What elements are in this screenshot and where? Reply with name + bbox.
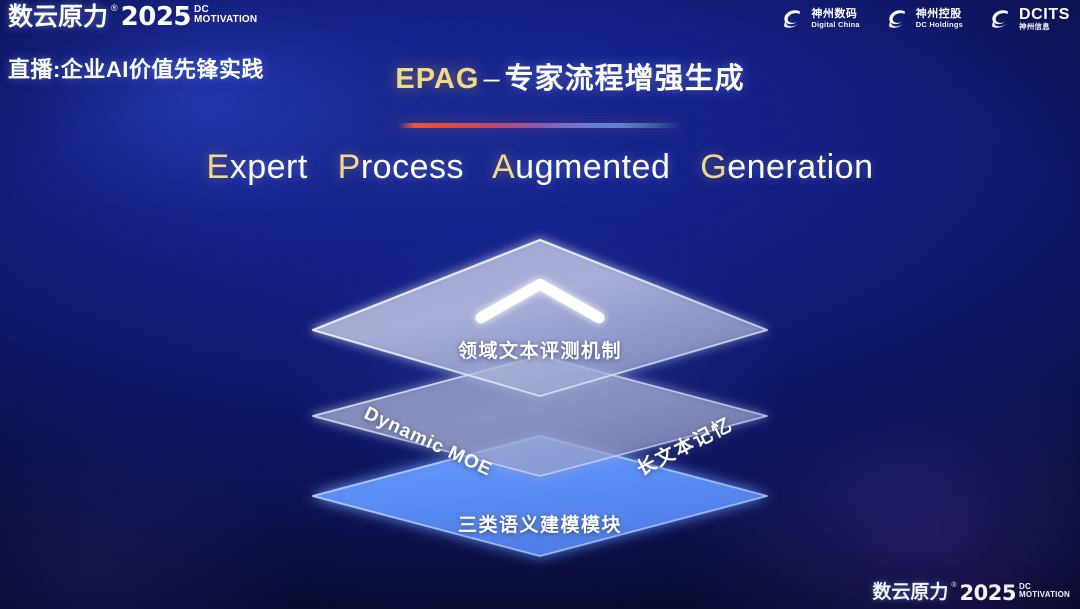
subtitle-capital: P (338, 148, 361, 186)
subtitle-rest: eneration (727, 148, 873, 186)
slide-title: EPAG–专家流程增强生成 (0, 55, 1080, 97)
partner-name-en: DC Holdings (916, 21, 963, 29)
subtitle-rest: rocess (361, 148, 464, 186)
brand-year: 2025 (960, 581, 1016, 605)
title-divider (397, 123, 683, 128)
brand-year: 2025 (121, 2, 191, 32)
subtitle-space (474, 148, 484, 186)
brand-dc-motivation: DC MOTIVATION (1019, 581, 1070, 599)
subtitle-rest: xpert (230, 148, 308, 186)
brand-dc-line2: MOTIVATION (1019, 591, 1070, 599)
partner-logo-digital-china: 神州数码 Digital China (779, 6, 859, 32)
swirl-icon (987, 6, 1013, 32)
footer-watermark-logo: 数云原力 ® 2025 DC MOTIVATION (872, 581, 1070, 605)
registered-mark-icon: ® (111, 2, 118, 15)
subtitle-space (680, 148, 690, 186)
slide-subtitle: Expert Process Augmented Generation (0, 148, 1080, 187)
partner-text: DCITS 神州信息 (1019, 7, 1070, 32)
partner-logo-group: 神州数码 Digital China 神州控股 DC Holdings DCIT… (779, 6, 1070, 32)
subtitle-capital: A (492, 148, 515, 186)
swirl-icon (779, 6, 805, 32)
title-dash: – (479, 63, 504, 95)
layer-label-bottom: 三类语义建模模块 (458, 510, 622, 537)
subtitle-word-process: Process (338, 148, 464, 186)
brand-name-cn: 数云原力 (8, 2, 108, 32)
title-acronym: EPAG (395, 63, 479, 95)
subtitle-word-expert: Expert (207, 148, 308, 186)
registered-mark-icon: ® (951, 581, 956, 591)
brand-logo: 数云原力 ® 2025 DC MOTIVATION (8, 2, 257, 32)
brand-dc-line2: MOTIVATION (194, 15, 257, 25)
subtitle-word-generation: Generation (700, 148, 873, 186)
subtitle-capital: G (700, 148, 727, 186)
layer-label-top: 领域文本评测机制 (458, 336, 622, 363)
chevron-up-icon (471, 274, 609, 330)
subtitle-word-augmented: Augmented (492, 148, 670, 186)
subtitle-capital: E (207, 148, 230, 186)
partner-name-cn: DCITS (1019, 7, 1070, 24)
slide-stage: 数云原力 ® 2025 DC MOTIVATION 直播:企业AI价值先锋实践 … (0, 0, 1080, 609)
brand-name-cn: 数云原力 (872, 581, 948, 605)
partner-text: 神州控股 DC Holdings (916, 9, 963, 28)
subtitle-space (318, 148, 328, 186)
title-chinese: 专家流程增强生成 (505, 63, 745, 95)
partner-text: 神州数码 Digital China (811, 9, 859, 28)
partner-name-en: 神州信息 (1019, 23, 1070, 31)
partner-name-en: Digital China (811, 21, 859, 29)
brand-dc-motivation: DC MOTIVATION (194, 2, 257, 25)
swirl-icon (884, 6, 910, 32)
subtitle-rest: ugmented (515, 148, 670, 186)
layer-diagram: 领域文本评测机制 Dynamic MOE 长文本记忆 三类语义建模模块 (305, 232, 775, 562)
partner-logo-dcits: DCITS 神州信息 (987, 6, 1070, 32)
partner-logo-dc-holdings: 神州控股 DC Holdings (884, 6, 963, 32)
